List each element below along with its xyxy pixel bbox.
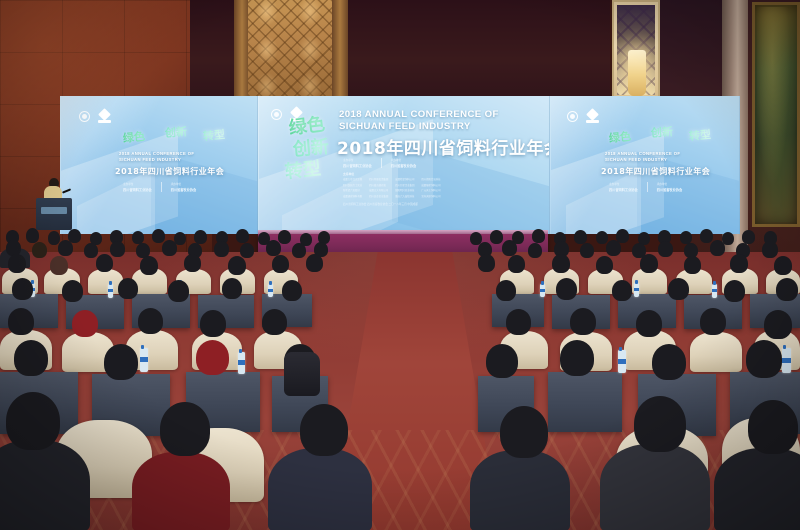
calligraphy-line-2: 创新 <box>292 138 329 159</box>
english-title-line1-left: 2018 ANNUAL CONFERENCE OF <box>119 152 194 157</box>
organizer-item: 承办单位 四川省畜牧业协会 <box>391 158 417 168</box>
sponsor-column: 成都大帝汉克生物 四川铁骑力士实业 新希望六和股份 成都通威饲料有限 <box>343 177 362 198</box>
organizer-item: 主办单位 四川省饲料工业协会 <box>123 182 152 192</box>
led-screen-left: 绿色 创新 转型 2018 ANNUAL CONFERENCE OF SICHU… <box>60 96 258 234</box>
ceiling-panel-frame-right <box>332 0 348 96</box>
organizer-item: 主办单位 四川省饲料工业协会 <box>343 158 372 168</box>
organizer-item: 主办单位 四川省饲料工业协会 <box>609 182 638 192</box>
ceiling-shadow-right <box>660 0 722 100</box>
decorative-lit-niche <box>612 0 660 100</box>
screen-footer-note: 四川省饲料工业协会 四川省畜牧业协会 二〇一八年三月 中国成都 <box>343 202 418 206</box>
association-circle-logo <box>567 111 578 122</box>
organizer-divider <box>647 182 648 192</box>
carved-ceiling-panel <box>248 0 334 96</box>
association-circle-logo <box>271 109 282 120</box>
facet-shape <box>637 151 740 234</box>
calligraphy-line-3: 转型 <box>689 129 712 142</box>
chinese-title-center: 2018年四川省饲料行业年会 <box>337 134 550 159</box>
conference-hall-photo: 绿色 创新 转型 2018 ANNUAL CONFERENCE OF SICHU… <box>0 0 800 530</box>
industry-diamond-logo <box>586 110 599 123</box>
organizer-divider <box>381 158 382 168</box>
calligraphy-line-3: 转型 <box>203 129 226 142</box>
association-circle-logo <box>79 111 90 122</box>
calligraphy-line-1: 绿色 <box>608 131 631 144</box>
calligraphy-line-1: 绿色 <box>122 131 145 144</box>
facet-shape <box>151 150 258 234</box>
floor-bag <box>284 352 320 396</box>
sponsor-column: 四川德阳台沃科技 成都蜀星饲料公司 广元天王饲料公司 宜宾天原饲料公司 <box>421 177 440 198</box>
english-title-line1-center: 2018 ANNUAL CONFERENCE OF <box>339 110 499 121</box>
stage-led-wall: 绿色 创新 转型 2018 ANNUAL CONFERENCE OF SICHU… <box>60 96 740 234</box>
english-title-line2-right: SICHUAN FEED INDUSTRY <box>605 158 667 163</box>
logo-row-right <box>567 110 599 123</box>
organizer-row-left: 主办单位 四川省饲料工业协会 承办单位 四川省畜牧业协会 <box>123 182 196 192</box>
organizer-item: 承办单位 四川省畜牧业协会 <box>171 182 197 192</box>
industry-diamond-logo <box>98 110 111 123</box>
lectern <box>36 198 72 230</box>
wall-sconce-light <box>628 50 646 96</box>
chinese-title-left: 2018年四川省饲料行业年会 <box>115 166 224 177</box>
wall-painting <box>752 2 800 227</box>
calligraphy-line-2: 创新 <box>651 126 674 139</box>
sponsor-column: 成都希望饲料公司 四川巨星企业集团 绵阳明兴农业科技 重庆六九畜牧科技 <box>395 177 414 198</box>
led-screen-right: 绿色 创新 转型 2018 ANNUAL CONFERENCE OF SICHU… <box>550 96 740 234</box>
calligraphy-line-1: 绿色 <box>288 116 326 138</box>
english-title-line1-right: 2018 ANNUAL CONFERENCE OF <box>605 152 680 157</box>
sponsor-column: 四川特驱投资集团 四川省吉峰农机 成都正大有限公司 四川高金实业集团 <box>369 177 388 198</box>
sponsors-heading: 支持单位 <box>343 172 354 176</box>
organizer-row-right: 主办单位 四川省饲料工业协会 承办单位 四川省畜牧业协会 <box>609 182 682 192</box>
organizer-item: 承办单位 四川省畜牧业协会 <box>657 182 683 192</box>
chinese-title-right: 2018年四川省饲料行业年会 <box>601 166 710 177</box>
sponsor-columns: 成都大帝汉克生物 四川铁骑力士实业 新希望六和股份 成都通威饲料有限 四川特驱投… <box>343 177 441 198</box>
calligraphy-line-3: 转型 <box>284 160 322 182</box>
logo-row-left <box>79 110 111 123</box>
english-title-line2-center: SICHUAN FEED INDUSTRY <box>339 122 471 133</box>
led-screen-center: 绿色 创新 转型 2018 ANNUAL CONFERENCE OF SICHU… <box>258 96 550 234</box>
calligraphy-line-2: 创新 <box>165 126 188 139</box>
english-title-line2-left: SICHUAN FEED INDUSTRY <box>119 158 181 163</box>
organizer-row-center: 主办单位 四川省饲料工业协会 承办单位 四川省畜牧业协会 <box>343 158 416 168</box>
organizer-divider <box>161 182 162 192</box>
